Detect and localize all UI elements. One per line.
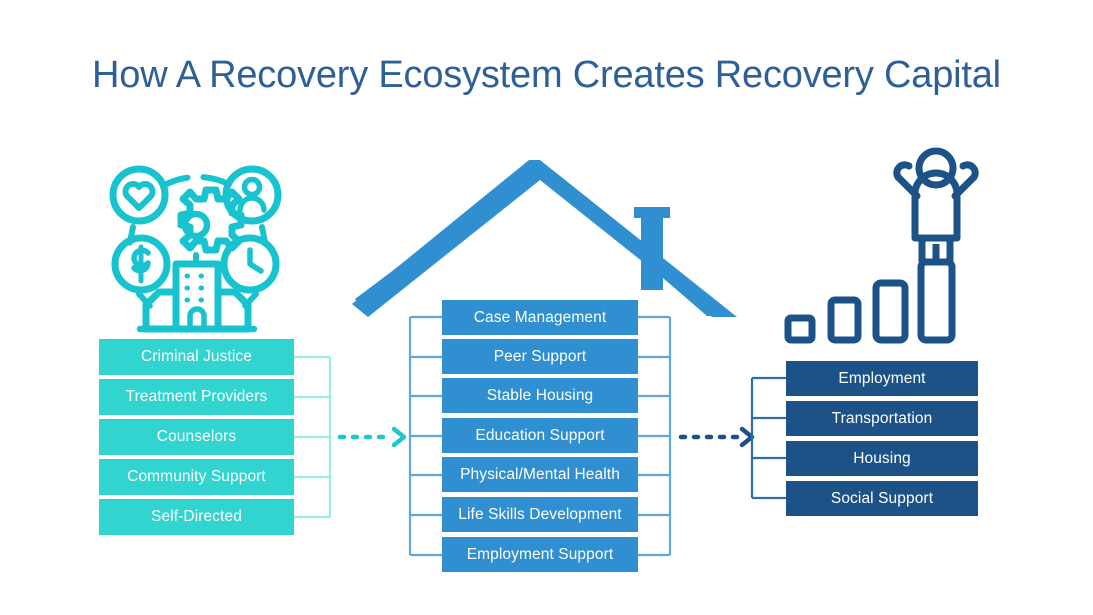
- center-item-label: Life Skills Development: [458, 506, 621, 524]
- center-item-education-support[interactable]: Education Support: [442, 418, 638, 453]
- left-item-label: Community Support: [127, 468, 266, 486]
- right-item-label: Transportation: [832, 410, 933, 428]
- center-item-label: Education Support: [475, 427, 604, 445]
- center-item-employment-support[interactable]: Employment Support: [442, 537, 638, 572]
- right-item-transportation[interactable]: Transportation: [786, 401, 978, 436]
- chimney: [634, 207, 670, 290]
- center-item-label: Case Management: [474, 309, 606, 327]
- person-icon: [226, 169, 278, 221]
- center-item-label: Employment Support: [467, 546, 614, 564]
- infographic-canvas: How A Recovery Ecosystem Creates Recover…: [0, 0, 1093, 615]
- center-bracket-right: [638, 317, 670, 555]
- center-item-life-skills-development[interactable]: Life Skills Development: [442, 497, 638, 532]
- building-icon: [140, 264, 254, 329]
- center-item-label: Physical/Mental Health: [460, 466, 620, 484]
- left-bracket: [294, 357, 330, 517]
- right-item-label: Housing: [853, 450, 911, 468]
- celebrating-person-icon: [897, 151, 975, 262]
- center-item-physical-mental-health[interactable]: Physical/Mental Health: [442, 457, 638, 492]
- left-item-label: Self-Directed: [151, 508, 242, 526]
- right-item-employment[interactable]: Employment: [786, 361, 978, 396]
- arrow-center-to-right: [681, 429, 752, 445]
- right-item-label: Employment: [838, 370, 925, 388]
- person-on-growth-chart-icon: [788, 151, 975, 340]
- right-item-housing[interactable]: Housing: [786, 441, 978, 476]
- house-roof-icon: [352, 160, 737, 317]
- ascending-bar-chart-icon: [788, 262, 952, 340]
- left-item-label: Counselors: [157, 428, 236, 446]
- right-item-social-support[interactable]: Social Support: [786, 481, 978, 516]
- center-item-label: Stable Housing: [487, 387, 594, 405]
- gear-icon: [181, 190, 241, 250]
- left-item-counselors[interactable]: Counselors: [99, 419, 294, 455]
- left-item-self-directed[interactable]: Self-Directed: [99, 499, 294, 535]
- building-windows-icon: [187, 276, 202, 300]
- center-item-stable-housing[interactable]: Stable Housing: [442, 378, 638, 413]
- center-item-peer-support[interactable]: Peer Support: [442, 339, 638, 374]
- center-item-case-management[interactable]: Case Management: [442, 300, 638, 335]
- left-item-label: Criminal Justice: [141, 348, 252, 366]
- page-title: How A Recovery Ecosystem Creates Recover…: [0, 54, 1093, 97]
- clock-icon: [224, 238, 276, 290]
- dashed-connector-arc-lower: [128, 227, 267, 306]
- right-bracket: [752, 378, 786, 498]
- left-item-label: Treatment Providers: [126, 388, 268, 406]
- center-bracket-left: [410, 317, 442, 555]
- dollar-icon: [115, 238, 167, 290]
- heart-icon: [113, 169, 165, 221]
- left-item-criminal-justice[interactable]: Criminal Justice: [99, 339, 294, 375]
- right-item-label: Social Support: [831, 490, 933, 508]
- ecosystem-network-icon: [113, 169, 278, 329]
- left-item-community-support[interactable]: Community Support: [99, 459, 294, 495]
- dashed-connector-arc: [163, 177, 232, 186]
- arrow-left-to-center: [340, 429, 404, 445]
- center-item-label: Peer Support: [494, 348, 587, 366]
- left-item-treatment-providers[interactable]: Treatment Providers: [99, 379, 294, 415]
- roof-chevron: [352, 160, 737, 317]
